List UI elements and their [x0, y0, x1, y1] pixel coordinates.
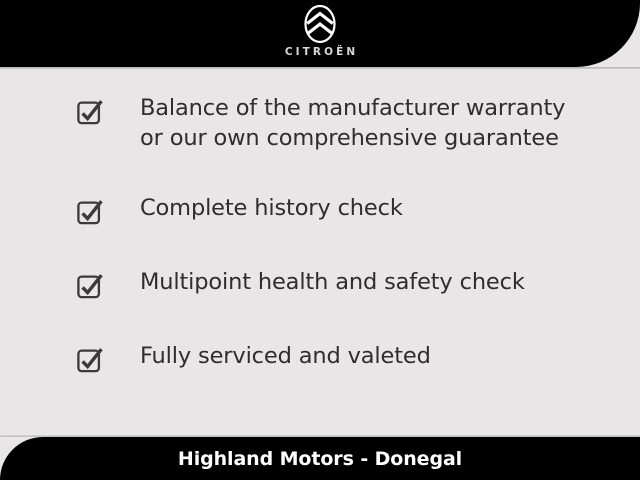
brand-wordmark: CITROËN [245, 46, 395, 58]
checked-checkbox-icon [76, 97, 106, 127]
feature-label: Multipoint health and safety check [140, 267, 525, 297]
feature-label: Complete history check [140, 193, 403, 223]
citroen-chevrons-logo-icon [298, 3, 342, 47]
vehicle-promo-poster: CITROËN Balance of the manufacturer warr… [0, 0, 640, 480]
feature-item: Multipoint health and safety check [0, 267, 640, 301]
checked-checkbox-icon [76, 345, 106, 375]
dealer-name: Highland Motors [178, 448, 354, 470]
feature-item: Fully serviced and valeted [0, 341, 640, 375]
feature-label: Balance of the manufacturer warranty or … [140, 93, 565, 153]
feature-list: Balance of the manufacturer warranty or … [0, 67, 640, 437]
feature-item: Balance of the manufacturer warranty or … [0, 93, 640, 153]
dealer-location: - Donegal [360, 448, 462, 470]
brand-block: CITROËN [245, 3, 395, 58]
dealer-banner: Highland Motors - Donegal [0, 448, 640, 470]
feature-label: Fully serviced and valeted [140, 341, 431, 371]
header-bar: CITROËN [0, 0, 640, 67]
checked-checkbox-icon [76, 271, 106, 301]
checked-checkbox-icon [76, 197, 106, 227]
feature-item: Complete history check [0, 193, 640, 227]
footer-bar: Highland Motors - Donegal [0, 437, 640, 480]
